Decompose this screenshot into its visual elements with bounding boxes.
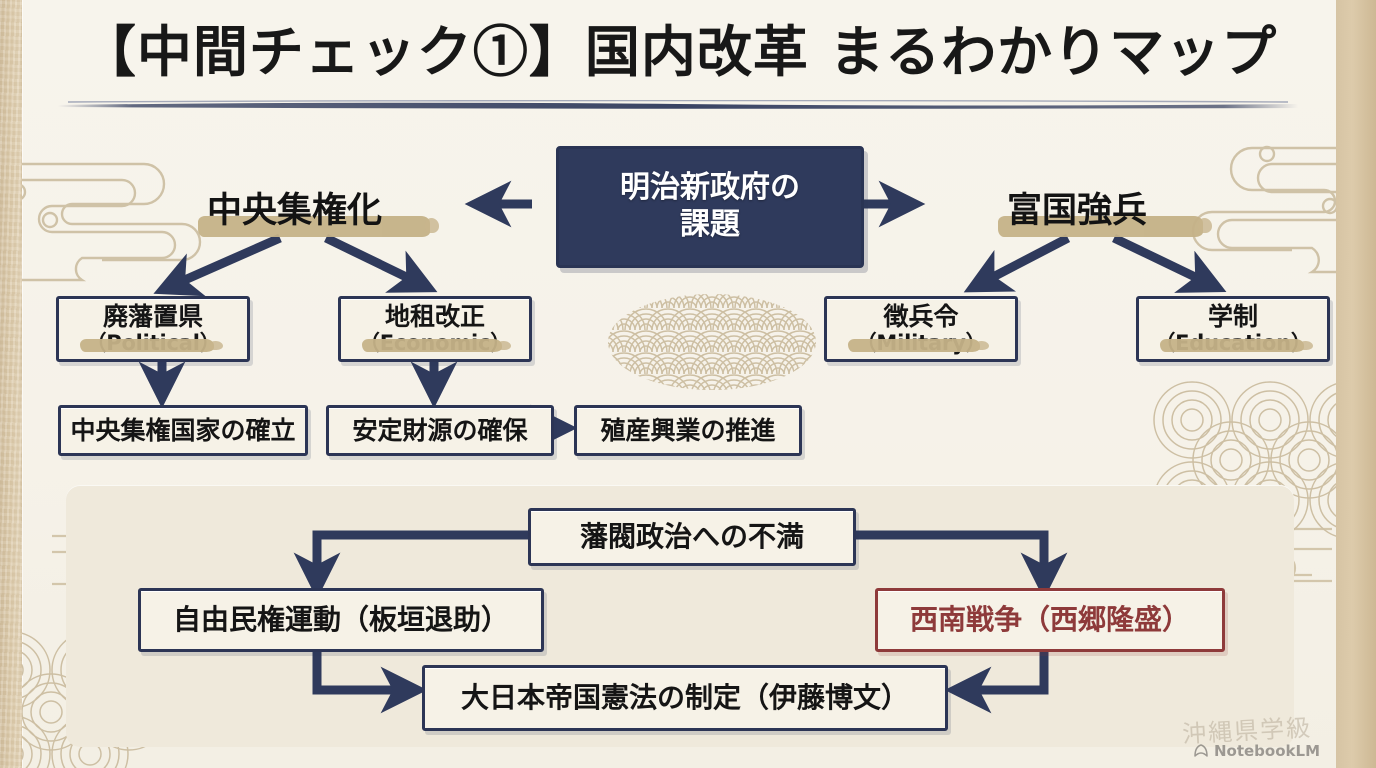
policy-box-gakusei[interactable]: 学制 （Education） <box>1136 296 1330 362</box>
notebooklm-label: NotebookLM <box>1214 742 1320 760</box>
branch-heading-left[interactable]: 中央集権化 <box>207 182 382 233</box>
outcome-label: 安定財源の確保 <box>352 417 527 445</box>
central-theme-line1: 明治新政府の <box>620 170 800 207</box>
branch-heading-right[interactable]: 富国強兵 <box>1007 182 1147 233</box>
title-underline-brush <box>58 100 1298 109</box>
policy-box-haihanchiken[interactable]: 廃藩置県 （Political） <box>56 296 250 362</box>
slide: 【中間チェック①】国内改革 まるわかりマップ <box>0 0 1376 768</box>
central-theme-box[interactable]: 明治新政府の 課題 <box>556 146 864 268</box>
policy-box-chouheirei[interactable]: 徴兵令 （Military） <box>824 296 1018 362</box>
panel-label: 西南戦争（西郷隆盛） <box>910 604 1190 635</box>
policy-box-chisokaisei[interactable]: 地租改正 （Economic） <box>338 296 532 362</box>
brush-policy-0 <box>80 339 214 352</box>
policy-label-jp: 地租改正 <box>385 303 485 331</box>
decorative-seigaiha-center <box>602 286 822 406</box>
panel-box-constitution[interactable]: 大日本帝国憲法の制定（伊藤博文） <box>422 665 948 731</box>
panel-label: 藩閥政治への不満 <box>580 521 804 552</box>
canvas: 【中間チェック①】国内改革 まるわかりマップ <box>22 0 1336 768</box>
outcome-box-industry-promotion[interactable]: 殖産興業の推進 <box>574 405 802 456</box>
notebooklm-icon <box>1193 743 1209 759</box>
outcome-box-stable-revenue[interactable]: 安定財源の確保 <box>326 405 554 456</box>
policy-label-jp: 徴兵令 <box>883 303 958 331</box>
kraft-edge-right <box>1336 0 1376 768</box>
policy-label-jp: 学制 <box>1208 303 1258 331</box>
notebooklm-watermark: NotebookLM <box>1193 742 1320 760</box>
page-title-wrap: 【中間チェック①】国内改革 まるわかりマップ <box>22 22 1336 83</box>
policy-label-jp: 廃藩置県 <box>103 303 203 331</box>
brush-policy-3 <box>1160 339 1304 352</box>
panel-label: 自由民権運動（板垣退助） <box>173 604 509 635</box>
page-title: 【中間チェック①】国内改革 まるわかりマップ <box>22 22 1336 83</box>
brush-policy-1 <box>362 339 502 352</box>
panel-box-freedom-movement[interactable]: 自由民権運動（板垣退助） <box>138 588 544 652</box>
outcome-label: 中央集権国家の確立 <box>70 417 295 445</box>
panel-box-satsuma-rebellion[interactable]: 西南戦争（西郷隆盛） <box>875 588 1225 652</box>
panel-label: 大日本帝国憲法の制定（伊藤博文） <box>461 682 909 713</box>
central-theme-line2: 課題 <box>680 207 740 244</box>
outcome-box-centralized-state[interactable]: 中央集権国家の確立 <box>58 405 308 456</box>
outcome-label: 殖産興業の推進 <box>600 417 775 445</box>
panel-box-discontent[interactable]: 藩閥政治への不満 <box>528 508 856 566</box>
brush-policy-2 <box>848 339 980 352</box>
